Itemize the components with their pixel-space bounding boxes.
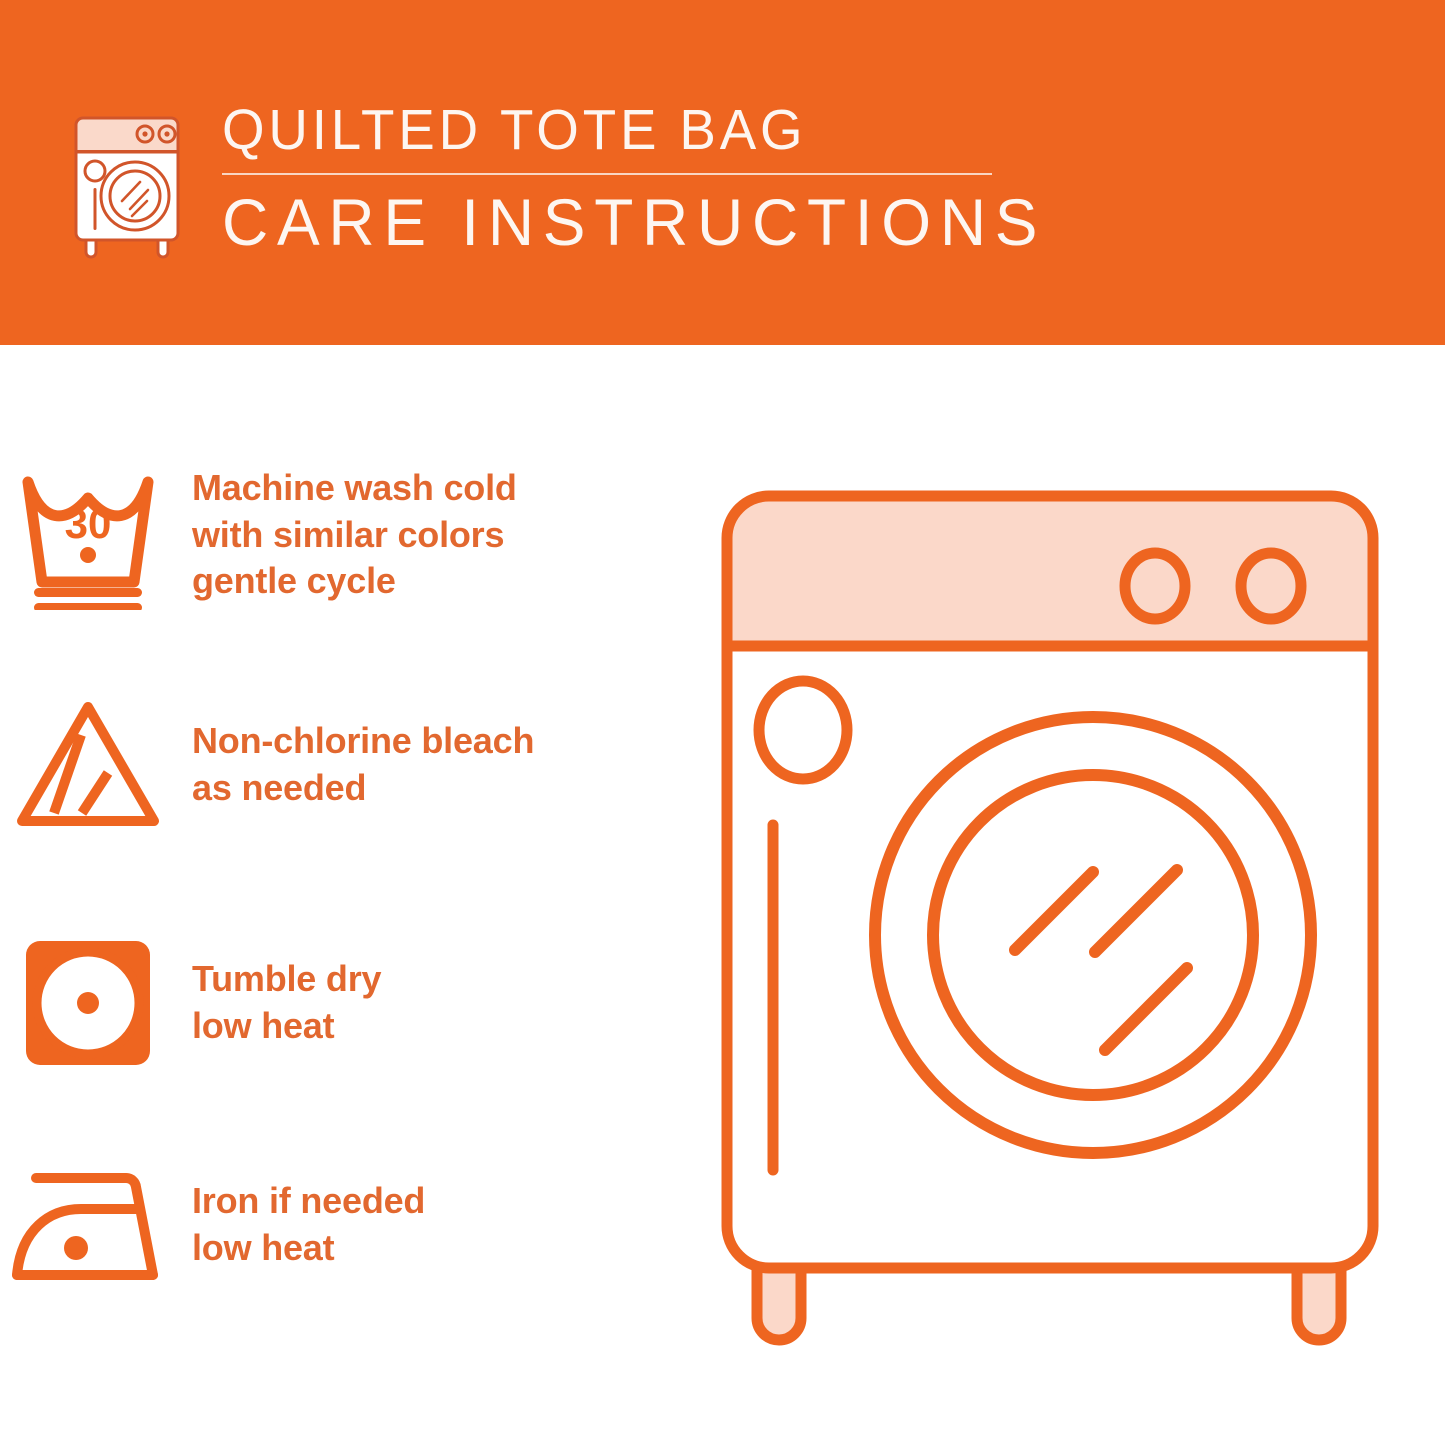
care-line: Tumble dry — [192, 956, 381, 1003]
care-line: Non-chlorine bleach — [192, 718, 534, 765]
header-band: QUILTED TOTE BAG CARE INSTRUCTIONS — [0, 0, 1445, 345]
care-row-iron: Iron if needed low heat — [0, 1160, 700, 1290]
machine-wash-30-icon: 30 — [0, 460, 175, 610]
care-line: as needed — [192, 765, 534, 812]
page-subtitle: CARE INSTRUCTIONS — [222, 189, 1046, 255]
care-line: Iron if needed — [192, 1178, 425, 1225]
care-text-machine-wash: Machine wash cold with similar colors ge… — [192, 465, 517, 605]
care-line: low heat — [192, 1225, 425, 1272]
care-text-bleach: Non-chlorine bleach as needed — [192, 718, 534, 812]
wash-temperature-label: 30 — [64, 500, 111, 547]
care-text-tumble-dry: Tumble dry low heat — [192, 956, 381, 1050]
care-row-tumble-dry: Tumble dry low heat — [0, 928, 700, 1078]
care-line: with similar colors — [192, 512, 517, 559]
header-content: QUILTED TOTE BAG CARE INSTRUCTIONS — [62, 96, 1072, 261]
header-divider — [222, 173, 992, 175]
tumble-dry-low-icon — [0, 928, 175, 1078]
care-line: Machine wash cold — [192, 465, 517, 512]
iron-low-heat-icon — [0, 1160, 175, 1290]
front-load-washing-machine-illustration — [715, 480, 1385, 1360]
care-row-machine-wash: 30 Machine wash cold with similar colors… — [0, 460, 700, 610]
washing-machine-icon — [62, 96, 192, 261]
non-chlorine-bleach-icon — [0, 695, 175, 835]
care-line: gentle cycle — [192, 558, 517, 605]
care-text-iron: Iron if needed low heat — [192, 1178, 425, 1272]
care-row-bleach: Non-chlorine bleach as needed — [0, 695, 700, 835]
header-text-block: QUILTED TOTE BAG CARE INSTRUCTIONS — [222, 96, 1072, 255]
care-line: low heat — [192, 1003, 381, 1050]
page-title: QUILTED TOTE BAG — [222, 102, 1038, 159]
